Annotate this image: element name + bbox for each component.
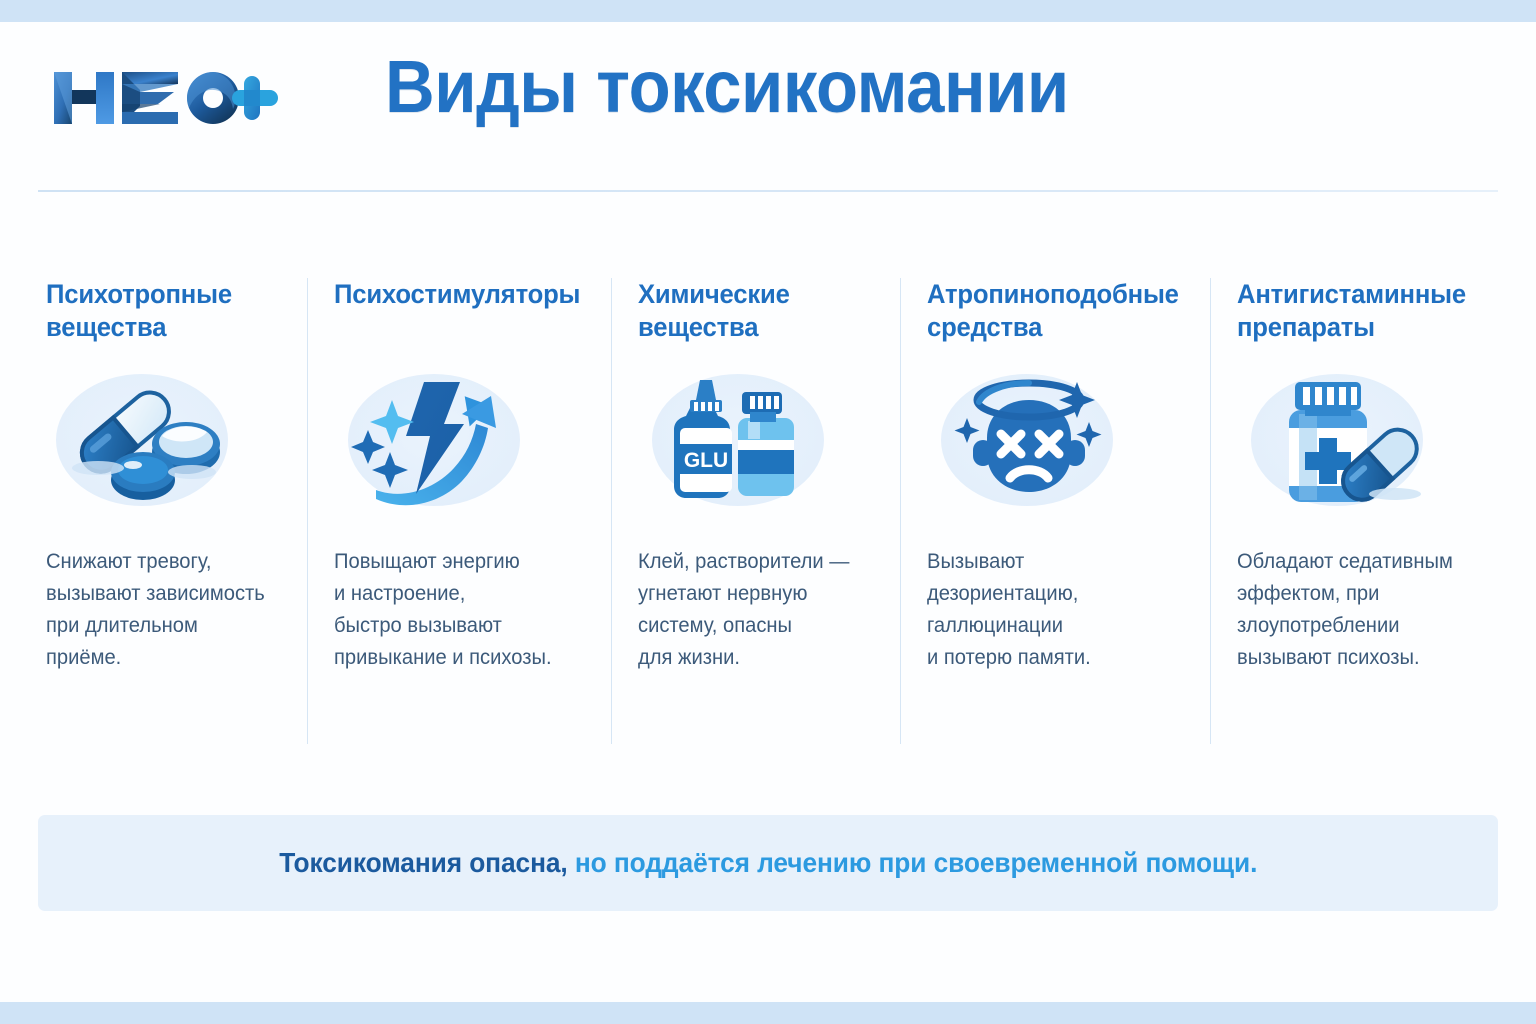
category-title: Психотропные вещества [46, 278, 277, 348]
category-column-atropine: Атропиноподобные средства [900, 278, 1210, 744]
category-columns: Психотропные вещества [38, 278, 1498, 744]
category-description: Обладают седативным эффектом, при злоупо… [1237, 546, 1471, 674]
category-column-chemicals: Химические вещества [611, 278, 899, 744]
pills-capsule-icon [46, 366, 251, 516]
top-accent-bar [0, 0, 1536, 22]
bottom-accent-bar [0, 1002, 1536, 1024]
category-description: Клей, растворители — угнетают нервную си… [638, 546, 872, 674]
category-column-psychotropic: Психотропные вещества [38, 278, 307, 744]
footer-light-text: но поддаётся лечению при своевременной п… [567, 847, 1257, 878]
category-column-antihistamines: Антигистаминные препараты [1210, 278, 1498, 744]
lightning-arrow-sparkles-icon [334, 366, 539, 516]
category-title: Атропиноподобные средства [927, 278, 1179, 348]
page-title: Виды токсикомании [385, 50, 1069, 124]
infographic-page: Виды токсикомании Психотропные вещества [0, 0, 1536, 1024]
neo-plus-logo [48, 64, 288, 132]
medicine-bottle-capsule-icon [1237, 366, 1442, 516]
glue-solvent-bottles-icon: GLU [638, 366, 843, 516]
category-column-stimulants: Психостимуляторы [307, 278, 611, 744]
category-description: Повыщают энергию и настроение, быстро вы… [334, 546, 583, 674]
header: Виды токсикомании [0, 22, 1536, 192]
footer-banner: Токсикомания опасна, но поддаётся лечени… [38, 815, 1498, 911]
category-description: Вызывают дезориентацию, галлюцинации и п… [927, 546, 1181, 674]
header-divider [38, 190, 1498, 192]
category-title: Антигистаминные препараты [1237, 278, 1468, 348]
glue-label: GLU [684, 449, 728, 472]
dizzy-head-icon [927, 366, 1132, 516]
footer-message: Токсикомания опасна, но поддаётся лечени… [279, 847, 1257, 879]
category-title: Химические вещества [638, 278, 869, 348]
category-title: Психостимуляторы [334, 278, 580, 348]
category-description: Снижают тревогу, вызывают зависимость пр… [46, 546, 280, 674]
footer-strong-text: Токсикомания опасна, [279, 847, 567, 878]
